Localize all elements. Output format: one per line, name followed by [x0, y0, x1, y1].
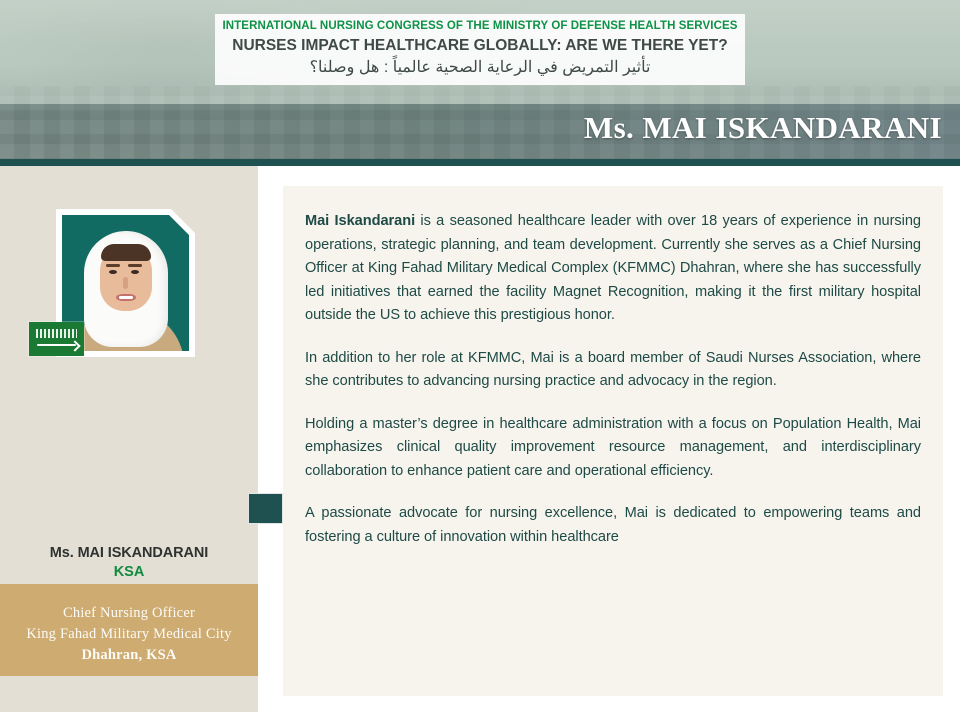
speaker-name-heading: Ms. MAI ISKANDARANI — [584, 110, 942, 146]
bio-paragraph-1: Mai Iskandarani is a seasoned healthcare… — [305, 210, 921, 328]
header-divider-rule — [0, 159, 960, 166]
caption-speaker-name: Ms. MAI ISKANDARANI — [0, 544, 258, 562]
role-job-title: Chief Nursing Officer — [0, 603, 258, 624]
congress-theme-line: NURSES IMPACT HEALTHCARE GLOBALLY: ARE W… — [221, 35, 739, 56]
portrait-brow-right — [128, 264, 142, 267]
congress-theme-arabic-line: تأثير التمريض في الرعاية الصحية عالمياً … — [221, 57, 739, 79]
flag-sword — [37, 344, 76, 346]
role-organisation: King Fahad Military Medical City — [0, 624, 258, 645]
bio-paragraph-3: Holding a master’s degree in healthcare … — [305, 413, 921, 484]
bio-paragraph-1-text: is a seasoned healthcare leader with ove… — [305, 213, 921, 323]
bio-paragraph-2: In addition to her role at KFMMC, Mai is… — [305, 347, 921, 394]
saudi-arabia-flag-icon — [29, 322, 84, 356]
portrait-eye-right — [131, 270, 139, 274]
speaker-profile-slide: INTERNATIONAL NURSING CONGRESS OF THE MI… — [0, 0, 960, 720]
left-sidebar: Ms. MAI ISKANDARANI KSA Chief Nursing Of… — [0, 166, 258, 712]
flag-shahada-script — [36, 329, 77, 338]
portrait-brow-left — [106, 264, 120, 267]
portrait-nose — [123, 277, 128, 289]
role-location: Dhahran, KSA — [0, 645, 258, 666]
congress-organisation-line: INTERNATIONAL NURSING CONGRESS OF THE MI… — [221, 19, 739, 34]
speaker-role-block: Chief Nursing Officer King Fahad Militar… — [0, 584, 258, 676]
portrait-hair — [101, 244, 151, 261]
biography-card: Mai Iskandarani is a seasoned healthcare… — [283, 186, 943, 696]
caption-country-code: KSA — [0, 563, 258, 581]
photo-caption: Ms. MAI ISKANDARANI KSA — [0, 544, 258, 581]
bio-lead-name: Mai Iskandarani — [305, 213, 415, 229]
portrait-eye-left — [109, 270, 117, 274]
teal-accent-square — [248, 493, 283, 524]
congress-title-banner: INTERNATIONAL NURSING CONGRESS OF THE MI… — [215, 14, 745, 85]
bio-paragraph-4: A passionate advocate for nursing excell… — [305, 502, 921, 549]
portrait-teeth — [119, 296, 133, 299]
